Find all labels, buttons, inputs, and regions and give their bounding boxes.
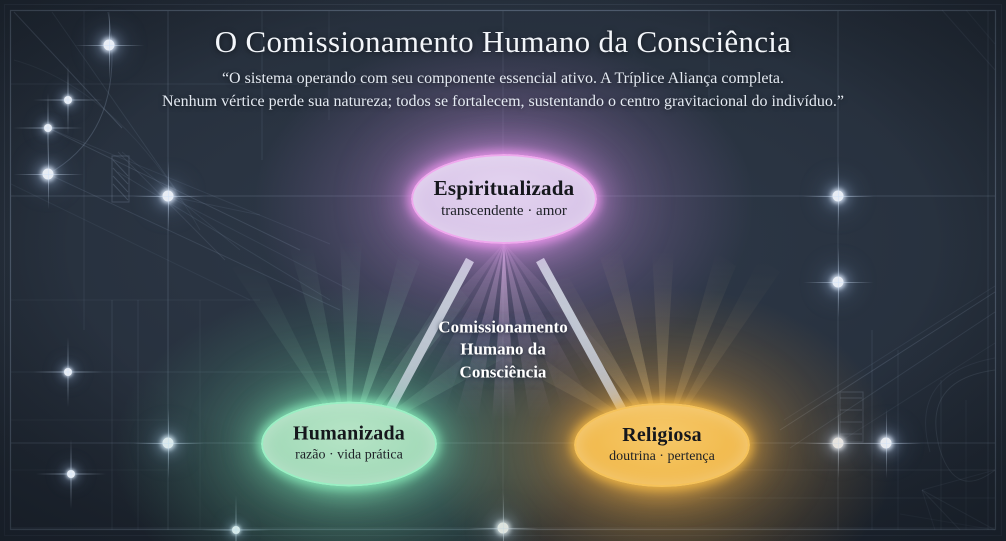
center-label-line-1: Comissionamento [438, 316, 567, 338]
vertex-religiosa[interactable]: Religiosa doutrina · pertença [574, 403, 750, 487]
blueprint-node [833, 191, 844, 202]
center-label: Comissionamento Humano da Consciência [438, 316, 567, 383]
blueprint-node [232, 526, 240, 534]
subtitle-line-2: Nenhum vértice perde sua natureza; todos… [0, 91, 1006, 114]
blueprint-node [163, 438, 174, 449]
vertex-humanizada[interactable]: Humanizada razão · vida prática [261, 402, 437, 487]
vertex-espiritualizada[interactable]: Espiritualizada transcendente · amor [411, 154, 597, 244]
diagram-canvas: O Comissionamento Humano da Consciência … [0, 0, 1006, 541]
blueprint-node [44, 124, 52, 132]
blueprint-node [67, 470, 75, 478]
center-label-line-2: Humano da [438, 339, 567, 361]
blueprint-node [881, 438, 892, 449]
vertex-religiosa-title: Religiosa [622, 425, 702, 446]
vertex-religiosa-subtitle: doutrina · pertença [609, 449, 715, 465]
blueprint-node [64, 368, 72, 376]
blueprint-node [833, 277, 844, 288]
center-label-line-3: Consciência [438, 361, 567, 383]
blueprint-node [498, 523, 509, 534]
blueprint-node [163, 191, 174, 202]
vertex-humanizada-title: Humanizada [293, 424, 405, 445]
blueprint-node [43, 169, 54, 180]
subtitle-line-1: “O sistema operando com seu componente e… [222, 70, 784, 87]
blueprint-node [833, 438, 844, 449]
vertex-humanizada-subtitle: razão · vida prática [295, 448, 403, 464]
vertex-espiritualizada-title: Espiritualizada [434, 177, 575, 199]
subtitle: “O sistema operando com seu componente e… [0, 68, 1006, 113]
vertex-espiritualizada-subtitle: transcendente · amor [441, 203, 567, 220]
page-title: O Comissionamento Humano da Consciência [0, 24, 1006, 60]
